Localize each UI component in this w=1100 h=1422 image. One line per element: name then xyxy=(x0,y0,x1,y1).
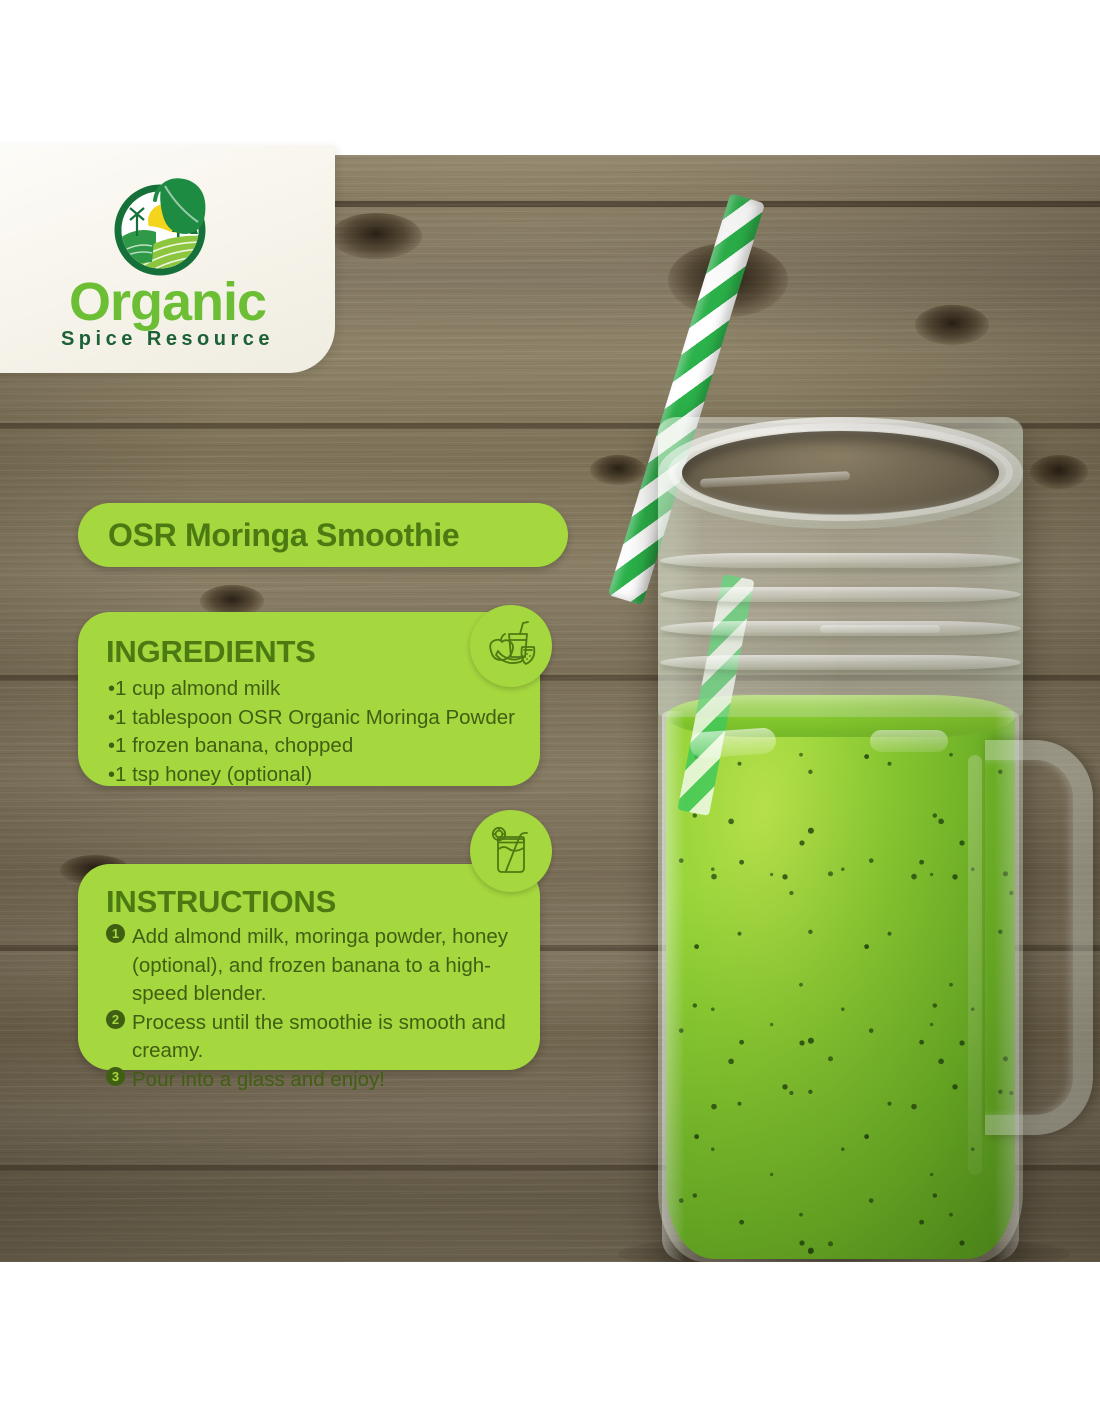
page-title: OSR Moringa Smoothie xyxy=(108,517,459,554)
step-number: 2 xyxy=(106,1010,125,1029)
bottom-white-margin xyxy=(0,1262,1100,1422)
list-item: •1 cup almond milk xyxy=(108,675,515,704)
list-item: •1 tsp honey (optional) xyxy=(108,761,515,790)
step-number: 1 xyxy=(106,924,125,943)
list-item: 2 Process until the smoothie is smooth a… xyxy=(106,1009,540,1066)
list-item: •1 tablespoon OSR Organic Moringa Powder xyxy=(108,704,515,733)
instructions-list: 1 Add almond milk, moringa powder, honey… xyxy=(106,923,540,1094)
brand-tagline: Spice Resource xyxy=(0,328,335,350)
step-number: 3 xyxy=(106,1067,125,1086)
ingredient-text: 1 tsp honey (optional) xyxy=(115,763,312,786)
list-item: 1 Add almond milk, moringa powder, honey… xyxy=(106,923,540,1009)
recipe-title-pill: OSR Moringa Smoothie xyxy=(78,503,568,567)
ingredients-icon-badge xyxy=(470,605,552,687)
brand-logo-panel[interactable]: Organic Spice Resource xyxy=(0,145,335,373)
bullet-icon: • xyxy=(108,735,115,757)
instructions-icon-badge xyxy=(470,810,552,892)
ingredient-text: 1 cup almond milk xyxy=(115,677,280,700)
step-text: Process until the smoothie is smooth and… xyxy=(132,1009,540,1066)
mason-jar-straw-icon xyxy=(482,822,540,880)
step-text: Add almond milk, moringa powder, honey (… xyxy=(132,923,540,1009)
ingredients-heading: INGREDIENTS xyxy=(106,634,316,670)
recipe-card-canvas: Organic Spice Resource OSR Moringa Smoot… xyxy=(0,0,1100,1422)
ingredient-text: 1 tablespoon OSR Organic Moringa Powder xyxy=(115,706,515,729)
bullet-icon: • xyxy=(108,764,115,786)
step-text: Pour into a glass and enjoy! xyxy=(132,1066,385,1095)
bullet-icon: • xyxy=(108,678,115,700)
list-item: 3 Pour into a glass and enjoy! xyxy=(106,1066,540,1095)
brand-name: Organic xyxy=(0,273,335,331)
ingredient-text: 1 frozen banana, chopped xyxy=(115,734,353,757)
instructions-card: INSTRUCTIONS 1 Add almond milk, moringa … xyxy=(78,864,540,1070)
top-white-margin xyxy=(0,0,1100,155)
bullet-icon: • xyxy=(108,707,115,729)
list-item: •1 frozen banana, chopped xyxy=(108,732,515,761)
ingredients-list: •1 cup almond milk •1 tablespoon OSR Org… xyxy=(108,675,515,789)
instructions-heading: INSTRUCTIONS xyxy=(106,884,336,920)
fruit-juice-glass-icon xyxy=(482,617,540,675)
farm-landscape-leaf-emblem-icon xyxy=(108,170,220,282)
